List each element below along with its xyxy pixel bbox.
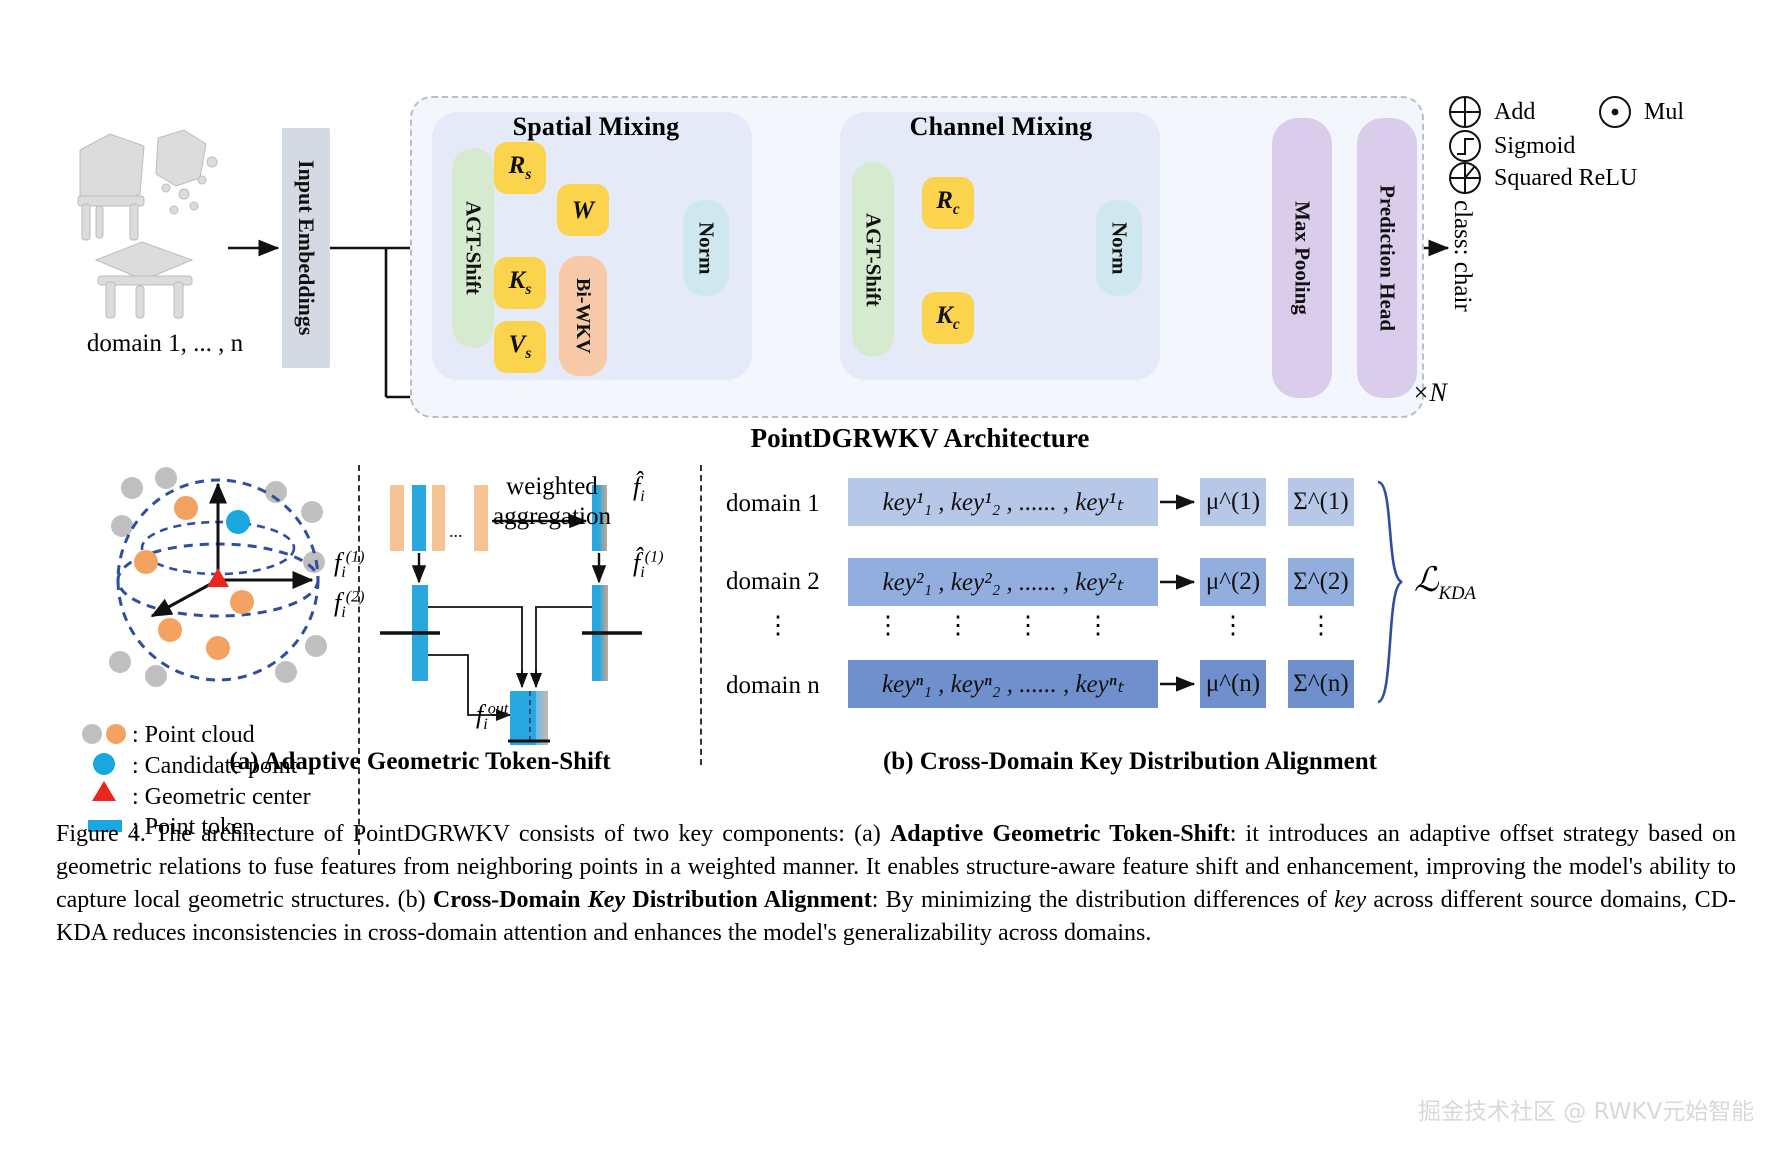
input-embeddings-block: Input Embeddings <box>282 128 330 368</box>
input-embeddings-label: Input Embeddings <box>295 160 317 335</box>
legend-add-label: Add <box>1494 99 1535 126</box>
architecture-title: PointDGRWKV Architecture <box>560 423 1280 454</box>
sigma-box-domain-2: Σ^(2) <box>1288 558 1354 606</box>
vdots-key1-col: ⋮ <box>868 618 908 634</box>
channel-mixing-title: Channel Mixing <box>876 112 1126 142</box>
caption-seg1: The architecture of PointDGRWKV consists… <box>146 821 890 847</box>
agt-shift-spatial-block: AGT-Shift <box>452 148 494 348</box>
gate-vs-label: Vs <box>509 332 532 362</box>
gate-kc-label: Kc <box>936 303 960 333</box>
panel-a-title: (a) Adaptive Geometric Token-Shift <box>170 748 670 776</box>
caption-bold-b-key: Key <box>588 887 625 913</box>
gate-rs-label: Rs <box>509 153 532 183</box>
mu-box-domain-2: μ^(2) <box>1200 558 1266 606</box>
vdots-domain-col: ⋮ <box>748 618 808 634</box>
max-pooling-block: Max Pooling <box>1272 118 1332 398</box>
weighted-aggregation-label: weighted aggregation <box>462 472 642 531</box>
f-hat-i-label: f̂i <box>633 472 645 506</box>
output-class-label: class: chair <box>1448 200 1476 312</box>
caption-bold-b2: Distribution Alignment <box>625 887 872 913</box>
gate-rc-block: Rc <box>922 177 974 229</box>
gate-ks-label: Ks <box>509 268 532 298</box>
legend-squared-relu-label: Squared ReLU <box>1494 165 1637 192</box>
gate-kc-block: Kc <box>922 292 974 344</box>
f-i-1-label: fi(1) <box>334 548 365 582</box>
caption-bold-b1: Cross-Domain <box>433 887 588 913</box>
norm-channel-block: Norm <box>1096 200 1142 296</box>
vdots-mu-col: ⋮ <box>1213 618 1253 634</box>
vdots-sigma-col: ⋮ <box>1301 618 1341 634</box>
gate-rc-label: Rc <box>936 188 960 218</box>
sigma-box-domain-1: Σ^(1) <box>1288 478 1354 526</box>
domain-n-label: domain n <box>726 672 820 700</box>
gate-w-block: W <box>557 184 609 236</box>
spatial-mixing-title: Spatial Mixing <box>476 112 716 142</box>
f-i-2-label: fi(2) <box>334 588 365 622</box>
f-hat-i-1-label: f̂i(1) <box>633 548 664 582</box>
figure-caption: Figure 4. The architecture of PointDGRWK… <box>56 818 1736 950</box>
svg-text:...: ... <box>449 521 463 541</box>
legend-mul-label: Mul <box>1644 99 1684 126</box>
agt-shift-channel-block: AGT-Shift <box>852 162 894 357</box>
point-cloud-thumbnail <box>62 110 232 325</box>
prediction-head-block: Prediction Head <box>1357 118 1417 398</box>
keys-row-domain-n: keyⁿ₁ , keyⁿ₂ , ...... , keyⁿₜ <box>848 660 1158 708</box>
sphere-diagram <box>90 450 350 710</box>
norm-spatial-block: Norm <box>683 200 729 296</box>
domain-caption: domain 1, ... , n <box>60 330 270 358</box>
gate-rs-block: Rs <box>494 142 546 194</box>
watermark: 掘金技术社区 @ RWKV元始智能 <box>1418 1092 1754 1126</box>
f-out-label: fiout <box>476 700 508 734</box>
caption-bold-a: Adaptive Geometric Token-Shift <box>890 821 1230 847</box>
gate-ks-block: Ks <box>494 257 546 309</box>
caption-prefix: Figure 4. <box>56 821 146 847</box>
panel-a-divider <box>358 465 360 855</box>
caption-seg3: : By minimizing the distribution differe… <box>872 887 1334 913</box>
gate-w-label: W <box>572 198 594 223</box>
sigma-box-domain-n: Σ^(n) <box>1288 660 1354 708</box>
vdots-key3-col: ⋮ <box>1008 618 1048 634</box>
gate-vs-block: Vs <box>494 321 546 373</box>
vdots-key4-col: ⋮ <box>1078 618 1118 634</box>
legend-point-cloud-label: : Point cloud <box>132 722 255 749</box>
repeat-label: ×N <box>1412 378 1447 408</box>
keys-row-domain-1: key¹₁ , key¹₂ , ...... , key¹ₜ <box>848 478 1158 526</box>
legend-sigmoid-label: Sigmoid <box>1494 133 1575 160</box>
vdots-key2-col: ⋮ <box>938 618 978 634</box>
loss-kda-label: ℒKDA <box>1414 560 1476 605</box>
keys-row-domain-2: key²₁ , key²₂ , ...... , key²ₜ <box>848 558 1158 606</box>
legend-geometric-center-label: : Geometric center <box>132 784 311 811</box>
domain-1-label: domain 1 <box>726 490 820 518</box>
domain-2-label: domain 2 <box>726 568 820 596</box>
panel-b-title: (b) Cross-Domain Key Distribution Alignm… <box>780 748 1480 776</box>
mu-box-domain-n: μ^(n) <box>1200 660 1266 708</box>
caption-key-italic: key <box>1334 887 1366 913</box>
figure-canvas: domain 1, ... , n Input Embeddings Spati… <box>0 0 1792 1170</box>
panel-ab-divider <box>700 465 702 765</box>
mu-box-domain-1: μ^(1) <box>1200 478 1266 526</box>
bi-wkv-block: Bi-WKV <box>559 256 607 376</box>
